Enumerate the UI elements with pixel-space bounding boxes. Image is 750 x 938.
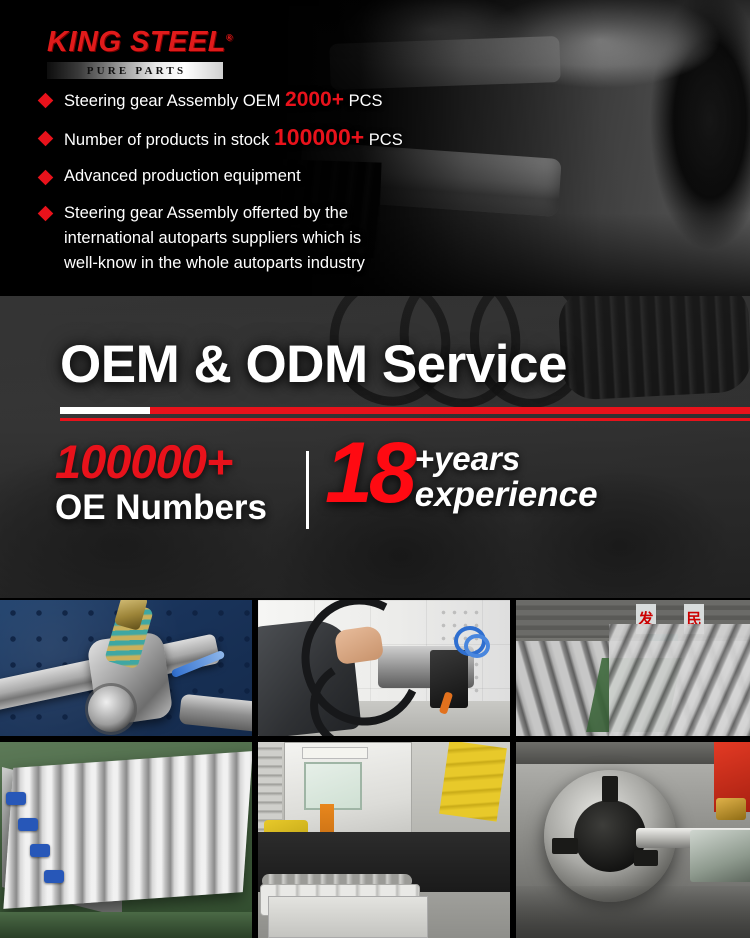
feature-text-pre: Steering gear Assembly OEM [64,92,285,110]
feature-item: Advanced production equipment [40,165,510,188]
feature-text: Advanced production equipment [64,165,301,188]
machine-base [268,896,428,938]
title-underline-thin [60,418,750,421]
feature-text: Steering gear Assembly OEM 2000+ PCS [64,88,383,113]
gallery-photo-cnc-lathe-chuck-machining-shaft[interactable] [516,742,750,938]
oem-odm-section: OEM & ODM Service 100000+ OE Numbers 18 … [0,296,750,598]
feature-paragraph-line-1: Steering gear Assembly offerted by the [64,204,348,222]
tool-holder [690,830,750,882]
stat-number: 100000+ [55,438,305,486]
feature-text-post: PCS [364,131,403,149]
bench-rail [0,912,252,938]
logo-gradient-bar: PURE PARTS [47,62,223,79]
gear-wheel [88,686,134,732]
yellow-guard [439,742,507,822]
feature-paragraph-line-3: well-know in the whole autoparts industr… [64,254,365,272]
red-diamond-icon [38,93,54,109]
logo-wordmark: KING STEEL® [47,28,223,57]
lathe-bed [516,886,750,938]
feature-paragraph: Steering gear Assembly offerted by the i… [64,201,365,276]
registered-trademark-icon: ® [226,32,233,42]
marketing-banner: KING STEEL® PURE PARTS Steering gear Ass… [0,0,750,938]
stat-experience: 18 +years experience [325,434,745,513]
feature-text-pre: Number of products in stock [64,131,274,149]
blue-end-cap [30,844,50,857]
brand-logo: KING STEEL® PURE PARTS [47,28,223,79]
gallery-photo-machined-rack-tubes-on-green-bench[interactable] [0,742,252,938]
stat-label: experience [361,476,745,514]
chuck-jaw [552,838,578,854]
machine-screen [304,762,362,810]
blue-end-cap [44,870,64,883]
gallery-photo-steering-gear-assembly-on-blue-pegboard[interactable] [0,600,252,736]
stat-number: 18 [325,434,413,513]
feature-item-paragraph: Steering gear Assembly offerted by the i… [40,201,510,276]
chuck-jaw [634,850,658,866]
photo-gallery: 发 民 [0,600,750,938]
stats-row: 100000+ OE Numbers 18 +years experience [0,438,750,558]
blue-end-cap [6,792,26,805]
hero-section: KING STEEL® PURE PARTS Steering gear Ass… [0,0,750,296]
rack-tubes-row [3,751,252,909]
feature-text: Number of products in stock 100000+ PCS [64,126,403,152]
stats-divider [306,451,309,529]
logo-wordmark-text: KING STEEL [47,26,226,58]
feature-highlight: 100000+ [274,124,364,150]
red-diamond-icon [38,131,54,147]
feature-item: Number of products in stock 100000+ PCS [40,126,510,152]
machine-label [302,747,368,759]
feature-item: Steering gear Assembly OEM 2000+ PCS [40,88,510,113]
feature-list: Steering gear Assembly OEM 2000+ PCS Num… [40,88,510,289]
red-diamond-icon [38,170,54,186]
feature-highlight: 2000+ [285,88,344,111]
feature-text-post: PCS [344,92,383,110]
stat-label: OE Numbers [55,488,305,528]
stat-oe-numbers: 100000+ OE Numbers [55,438,305,528]
red-diamond-icon [38,206,54,222]
title-underline-thick [60,407,750,414]
chuck-jaw [602,776,618,802]
blue-air-coil [464,634,490,658]
blue-end-cap [18,818,38,831]
gallery-photo-cnc-automated-production-line[interactable] [258,742,510,938]
stacked-parts-right [609,624,750,736]
logo-subtitle: PURE PARTS [84,65,187,77]
feature-paragraph-line-2: international autoparts suppliers which … [64,229,361,247]
gallery-photo-technician-testing-steering-gear[interactable] [258,600,510,736]
page-title: OEM & ODM Service [60,338,567,391]
gallery-photo-warehouse-racks-of-steering-housings[interactable]: 发 民 [516,600,750,736]
brass-fitting [716,798,746,820]
